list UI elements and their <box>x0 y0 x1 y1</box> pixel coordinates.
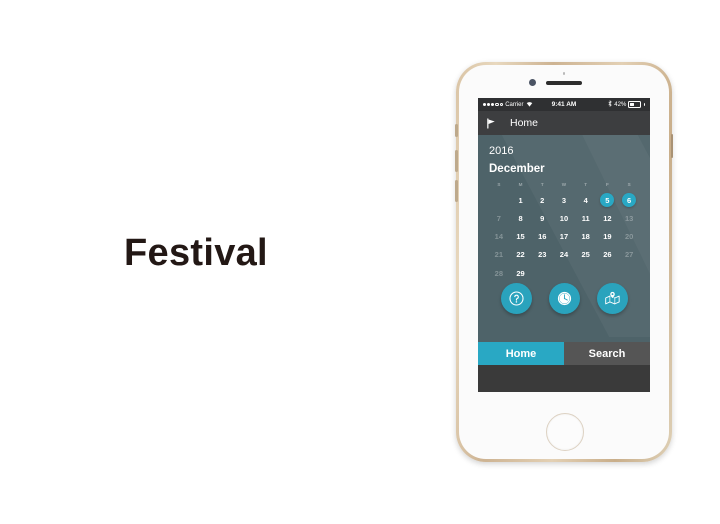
calendar-cell[interactable]: 24 <box>553 244 575 262</box>
calendar-day: 22 <box>514 248 528 262</box>
calendar-cell[interactable]: 21 <box>488 244 510 262</box>
calendar-cell <box>553 262 575 281</box>
question-mark-icon <box>508 290 525 307</box>
calendar-day: 3 <box>557 193 571 207</box>
calendar-day: 23 <box>535 248 549 262</box>
calendar-day: 2 <box>535 193 549 207</box>
calendar-day <box>535 262 549 276</box>
status-bar-right: 42% <box>576 100 645 109</box>
calendar-day: 29 <box>514 266 528 280</box>
calendar-day: 28 <box>492 266 506 280</box>
calendar-day: 17 <box>557 230 571 244</box>
weekday-header: S <box>488 181 510 189</box>
proximity-sensor-icon <box>563 72 566 75</box>
calendar-cell[interactable]: 27 <box>618 244 640 262</box>
phone-mockup: Carrier 9:41 AM 42% <box>456 62 672 462</box>
status-bar-left: Carrier <box>483 101 552 109</box>
calendar-day: 1 <box>514 193 528 207</box>
status-bar-time: 9:41 AM <box>552 101 577 108</box>
calendar-cell[interactable]: 11 <box>575 208 597 226</box>
calendar-cell[interactable]: 13 <box>618 208 640 226</box>
calendar-week-row: 21 22 23 24 25 26 27 <box>488 244 640 262</box>
calendar-day: 7 <box>492 212 506 226</box>
calendar-cell[interactable]: 5 <box>597 189 619 208</box>
weekday-header: F <box>597 181 619 189</box>
calendar-week-row: 1 2 3 4 5 6 <box>488 189 640 208</box>
weekday-header: W <box>553 181 575 189</box>
calendar-cell <box>597 262 619 281</box>
calendar-day: 20 <box>622 230 636 244</box>
weekday-header: T <box>531 181 553 189</box>
nav-bar: Home <box>478 111 650 135</box>
action-button-row <box>478 281 650 314</box>
calendar-cell[interactable] <box>488 189 510 208</box>
calendar-week-row: 28 29 <box>488 262 640 281</box>
calendar-cell[interactable]: 12 <box>597 208 619 226</box>
calendar-day <box>492 189 506 203</box>
calendar-cell[interactable]: 16 <box>531 226 553 244</box>
calendar-day <box>579 262 593 276</box>
clock-icon <box>556 290 573 307</box>
bluetooth-icon <box>608 100 612 109</box>
calendar-cell[interactable]: 20 <box>618 226 640 244</box>
calendar-day <box>557 262 571 276</box>
calendar-day: 13 <box>622 212 636 226</box>
earpiece-speaker-icon <box>546 81 582 85</box>
calendar-day: 24 <box>557 248 571 262</box>
calendar-day-selected: 5 <box>600 193 614 207</box>
calendar-month: December <box>489 163 640 175</box>
calendar-cell[interactable]: 22 <box>510 244 532 262</box>
battery-icon <box>628 101 641 108</box>
schedule-button[interactable] <box>549 283 580 314</box>
calendar-day: 12 <box>600 212 614 226</box>
calendar-day: 16 <box>535 230 549 244</box>
calendar-day: 21 <box>492 248 506 262</box>
calendar-day <box>600 262 614 276</box>
calendar-cell[interactable]: 6 <box>618 189 640 208</box>
calendar-cell[interactable]: 8 <box>510 208 532 226</box>
calendar-day-selected: 6 <box>622 193 636 207</box>
calendar-cell <box>575 262 597 281</box>
calendar-cell[interactable]: 23 <box>531 244 553 262</box>
calendar-cell[interactable]: 15 <box>510 226 532 244</box>
calendar-day: 19 <box>600 230 614 244</box>
calendar-cell[interactable]: 19 <box>597 226 619 244</box>
calendar-cell[interactable]: 4 <box>575 189 597 208</box>
calendar-day: 26 <box>600 248 614 262</box>
calendar-year: 2016 <box>489 145 640 157</box>
calendar-cell[interactable]: 28 <box>488 262 510 281</box>
calendar-cell[interactable]: 18 <box>575 226 597 244</box>
home-button[interactable] <box>546 413 584 451</box>
calendar-day: 18 <box>579 230 593 244</box>
calendar-cell[interactable]: 3 <box>553 189 575 208</box>
mute-switch[interactable] <box>455 124 458 137</box>
volume-down-button[interactable] <box>455 180 458 202</box>
calendar-day: 27 <box>622 248 636 262</box>
calendar-cell[interactable]: 25 <box>575 244 597 262</box>
page-title: Festival <box>124 234 268 272</box>
calendar-day: 15 <box>514 230 528 244</box>
calendar-day: 11 <box>579 212 593 226</box>
calendar-cell[interactable]: 9 <box>531 208 553 226</box>
calendar-grid: S M T W T F S 1 2 <box>488 181 640 281</box>
tab-bar: Home Search <box>478 342 650 365</box>
calendar-cell[interactable]: 26 <box>597 244 619 262</box>
calendar-cell[interactable]: 1 <box>510 189 532 208</box>
front-camera-icon <box>529 79 536 86</box>
calendar-cell[interactable]: 29 <box>510 262 532 281</box>
status-bar: Carrier 9:41 AM 42% <box>478 98 650 111</box>
battery-percent-label: 42% <box>614 102 626 108</box>
tab-home[interactable]: Home <box>478 342 564 365</box>
map-button[interactable] <box>597 283 628 314</box>
calendar-cell[interactable]: 14 <box>488 226 510 244</box>
map-pin-icon <box>604 290 621 307</box>
calendar-cell[interactable]: 7 <box>488 208 510 226</box>
weekday-header: M <box>510 181 532 189</box>
calendar-day: 9 <box>535 212 549 226</box>
carrier-label: Carrier <box>505 102 523 108</box>
calendar-week-row: 14 15 16 17 18 19 20 <box>488 226 640 244</box>
help-button[interactable] <box>501 283 532 314</box>
phone-screen: Carrier 9:41 AM 42% <box>478 98 650 392</box>
cellular-signal-icon <box>483 103 503 107</box>
flag-icon[interactable] <box>485 117 498 130</box>
nav-title: Home <box>510 117 538 129</box>
calendar-cell[interactable]: 10 <box>553 208 575 226</box>
calendar-day <box>622 262 636 276</box>
calendar-cell <box>618 262 640 281</box>
weekday-header: S <box>618 181 640 189</box>
calendar-day: 8 <box>514 212 528 226</box>
calendar-day: 25 <box>579 248 593 262</box>
calendar-day: 10 <box>557 212 571 226</box>
calendar-week-row: 7 8 9 10 11 12 13 <box>488 208 640 226</box>
calendar-cell <box>531 262 553 281</box>
calendar-body: 1 2 3 4 5 6 7 8 9 10 11 <box>488 189 640 281</box>
calendar-cell[interactable]: 17 <box>553 226 575 244</box>
power-button[interactable] <box>671 134 674 158</box>
weekday-header: T <box>575 181 597 189</box>
battery-cap-icon <box>644 103 645 106</box>
calendar-panel: 2016 December S M T W T F S <box>478 135 650 337</box>
calendar-day: 14 <box>492 230 506 244</box>
calendar-day: 4 <box>579 193 593 207</box>
calendar-cell[interactable]: 2 <box>531 189 553 208</box>
volume-up-button[interactable] <box>455 150 458 172</box>
tab-search[interactable]: Search <box>564 342 650 365</box>
calendar-weekday-header-row: S M T W T F S <box>488 181 640 189</box>
wifi-icon <box>526 101 533 109</box>
